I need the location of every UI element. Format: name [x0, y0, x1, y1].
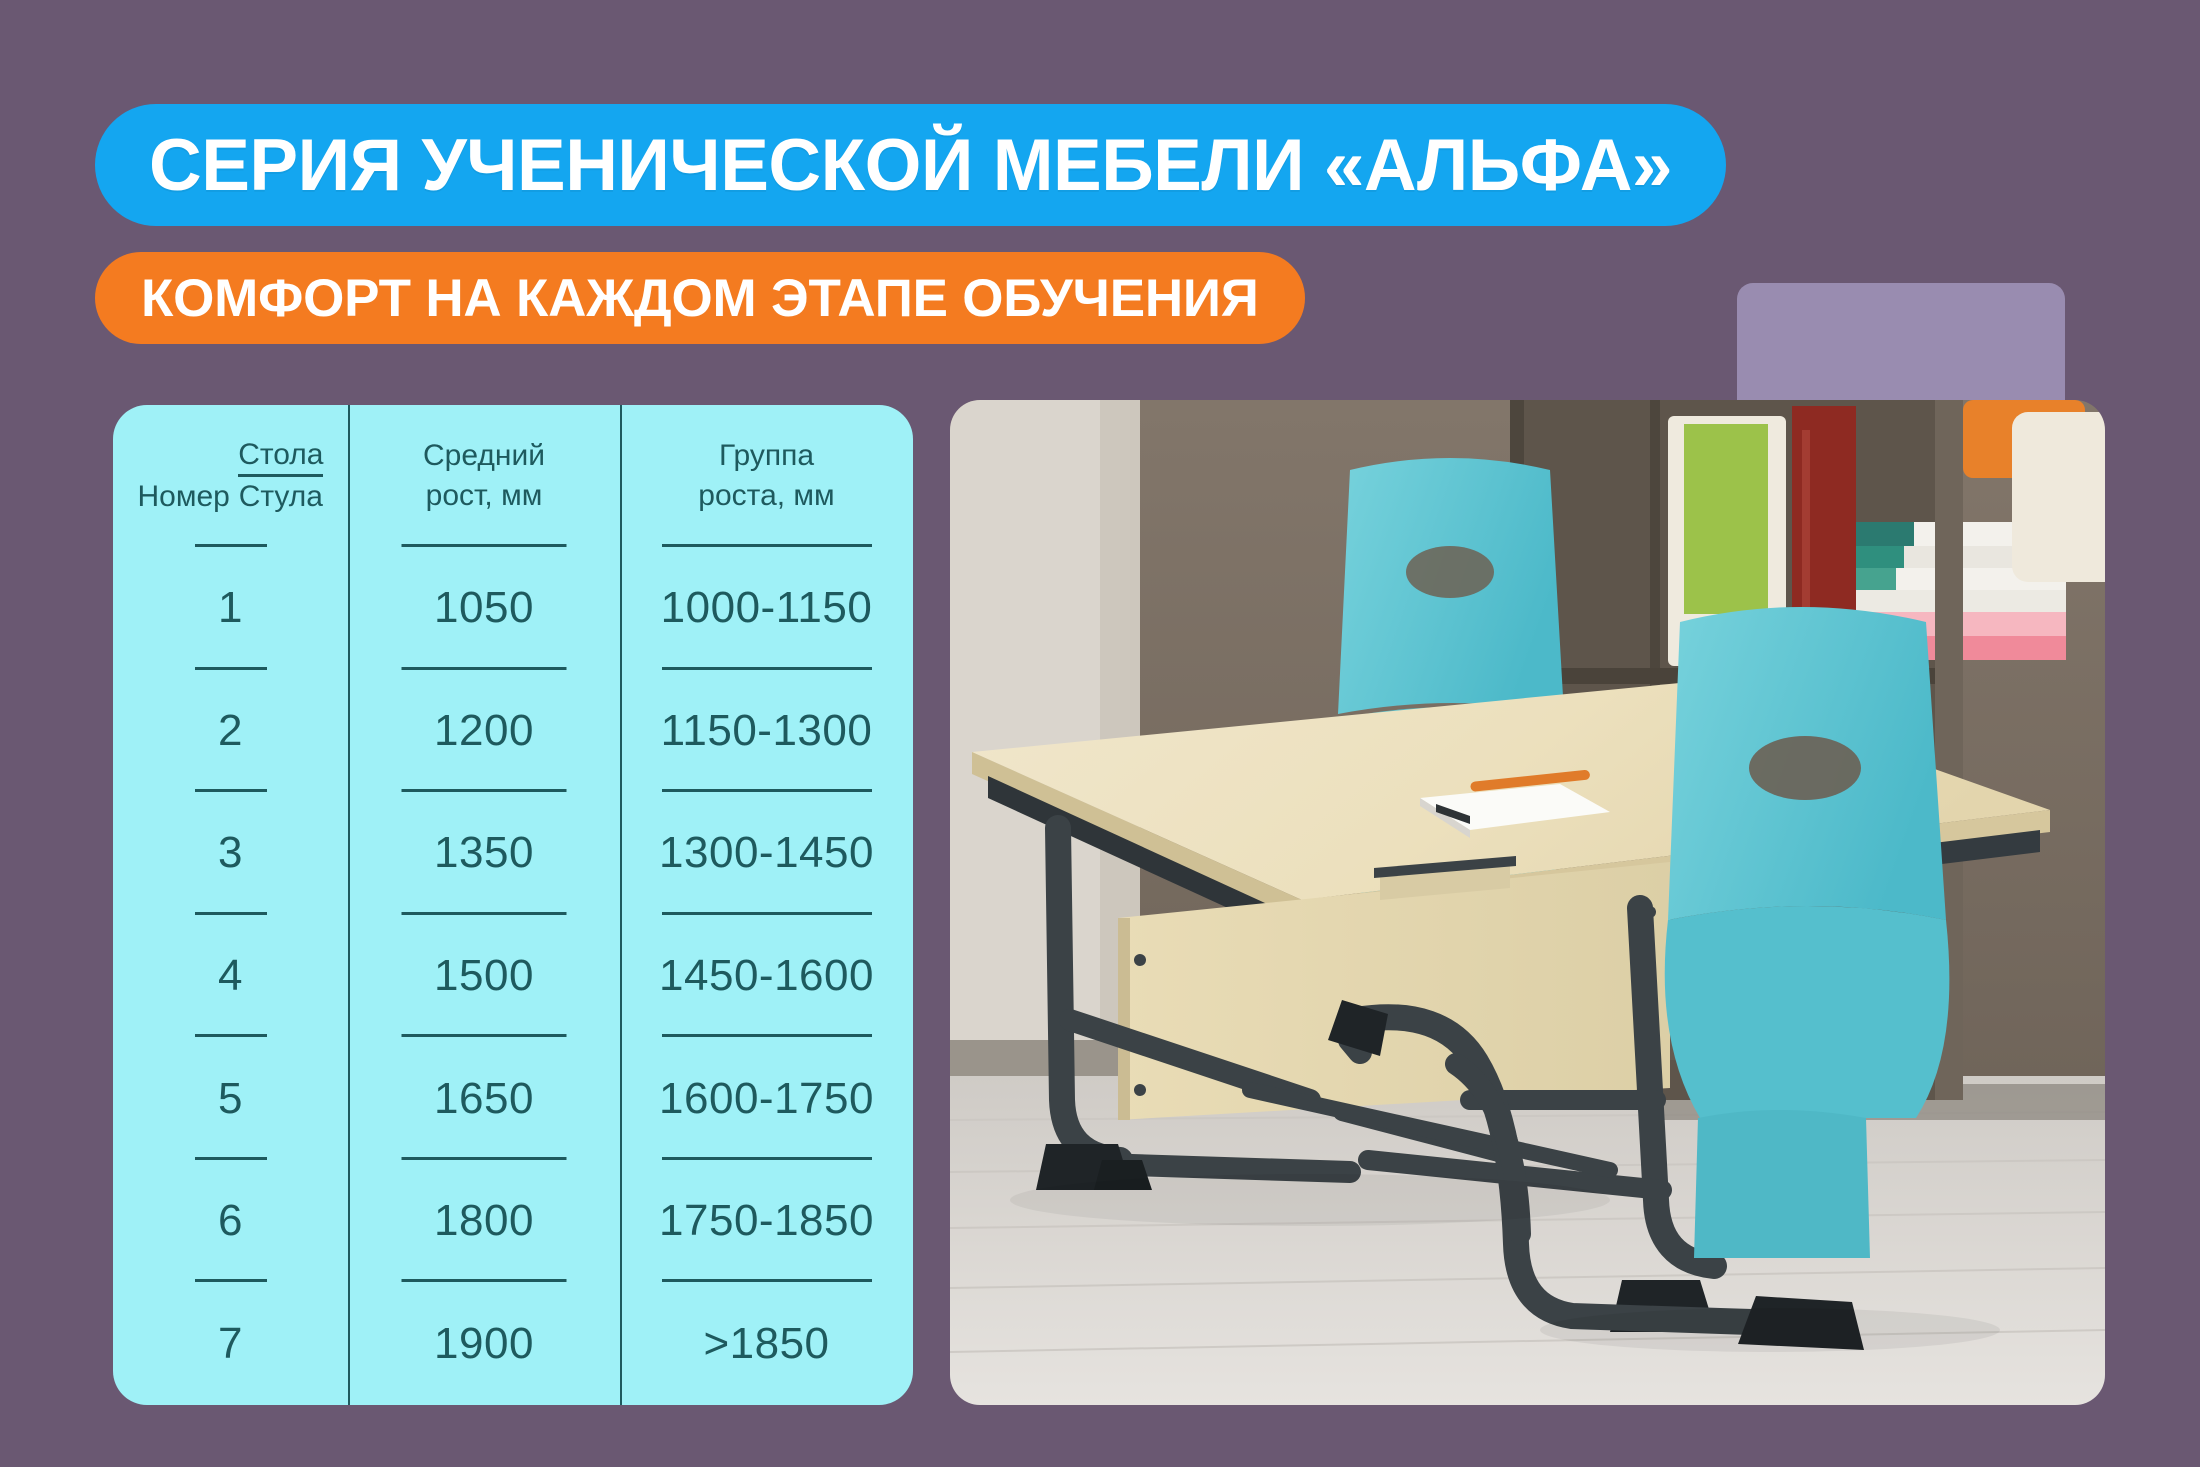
table-row: 415001450-1600 — [113, 915, 913, 1038]
product-photo — [950, 400, 2105, 1405]
classroom-scene-illustration — [950, 400, 2105, 1405]
header-cell-average-height: Средний рост, мм — [348, 405, 620, 547]
cell-height-group: 1600-1750 — [620, 1037, 913, 1160]
table-head: Номер Стола Стула Средний рост, мм — [113, 405, 913, 547]
table-row: 110501000-1150 — [113, 547, 913, 670]
decorative-rounded-rectangle — [1737, 283, 2065, 418]
cell-height-group: 1750-1850 — [620, 1160, 913, 1283]
cell-average-height: 1500 — [348, 915, 620, 1038]
size-table-card: Номер Стола Стула Средний рост, мм — [113, 405, 913, 1405]
cell-height-group: >1850 — [620, 1282, 913, 1405]
header-number-label: Номер — [138, 480, 230, 513]
header-average-line2: рост, мм — [426, 479, 543, 512]
cell-height-group: 1000-1150 — [620, 547, 913, 670]
header-group-line1: Группа — [719, 439, 814, 472]
cell-number: 3 — [113, 792, 348, 915]
cell-number: 7 — [113, 1282, 348, 1405]
header-desk-chair-fraction: Стола Стула — [238, 435, 323, 516]
cell-average-height: 1050 — [348, 547, 620, 670]
cell-height-group: 1450-1600 — [620, 915, 913, 1038]
cell-number: 6 — [113, 1160, 348, 1283]
table-row: 618001750-1850 — [113, 1160, 913, 1283]
title-banner: СЕРИЯ УЧЕНИЧЕСКОЙ МЕБЕЛИ «АЛЬФА» — [95, 104, 1726, 226]
header-cell-number: Номер Стола Стула — [113, 405, 348, 547]
cell-average-height: 1350 — [348, 792, 620, 915]
size-table: Номер Стола Стула Средний рост, мм — [113, 405, 913, 1405]
table-row: 313501300-1450 — [113, 792, 913, 915]
whiteboard — [2012, 412, 2105, 582]
cell-average-height: 1900 — [348, 1282, 620, 1405]
cell-average-height: 1200 — [348, 670, 620, 793]
header-desk-label: Стола — [238, 435, 323, 474]
cell-average-height: 1800 — [348, 1160, 620, 1283]
table-header-row: Номер Стола Стула Средний рост, мм — [113, 405, 913, 547]
page-title: СЕРИЯ УЧЕНИЧЕСКОЙ МЕБЕЛИ «АЛЬФА» — [149, 129, 1672, 202]
header-group-line2: роста, мм — [698, 479, 834, 512]
table-row: 212001150-1300 — [113, 670, 913, 793]
cell-average-height: 1650 — [348, 1037, 620, 1160]
cell-number: 4 — [113, 915, 348, 1038]
header-chair-label: Стула — [238, 474, 323, 516]
cell-number: 5 — [113, 1037, 348, 1160]
left-baseboard — [950, 1040, 1142, 1080]
left-wall-panel — [950, 400, 1100, 1060]
subtitle-banner: КОМФОРТ НА КАЖДОМ ЭТАПЕ ОБУЧЕНИЯ — [95, 252, 1305, 344]
header-cell-height-group: Группа роста, мм — [620, 405, 913, 547]
header-average-line1: Средний — [423, 439, 545, 472]
cell-height-group: 1300-1450 — [620, 792, 913, 915]
cell-height-group: 1150-1300 — [620, 670, 913, 793]
chair-seat — [1665, 906, 1950, 1118]
table-row: 71900>1850 — [113, 1282, 913, 1405]
page-subtitle: КОМФОРТ НА КАЖДОМ ЭТАПЕ ОБУЧЕНИЯ — [141, 272, 1259, 325]
table-row: 516501600-1750 — [113, 1037, 913, 1160]
cell-number: 2 — [113, 670, 348, 793]
cell-number: 1 — [113, 547, 348, 670]
table-body: 110501000-1150212001150-1300313501300-14… — [113, 547, 913, 1405]
chair-handle-cutout — [1749, 736, 1861, 800]
